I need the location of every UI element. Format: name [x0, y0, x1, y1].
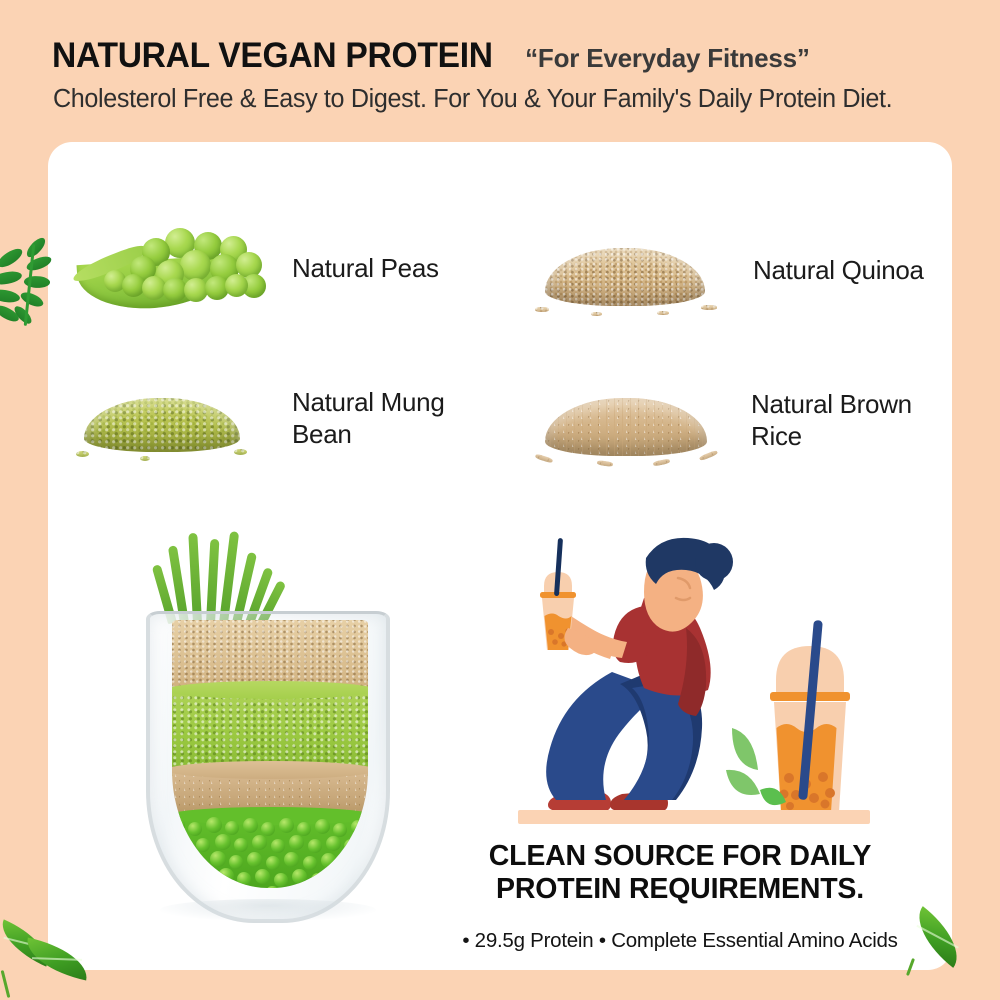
large-bubble-tea-cup	[770, 620, 850, 812]
cta-headline-line2: PROTEIN REQUIREMENTS.	[400, 873, 960, 906]
quinoa-pile-icon	[533, 220, 723, 320]
cta-headline-line1: CLEAN SOURCE FOR DAILY	[400, 840, 960, 873]
ground-shelf-bar	[518, 810, 870, 824]
subtitle: Cholesterol Free & Easy to Digest. For Y…	[53, 85, 892, 114]
cta-headline: CLEAN SOURCE FOR DAILY PROTEIN REQUIREME…	[400, 840, 960, 907]
sprout-icon	[160, 527, 290, 623]
layered-glass-image	[108, 527, 448, 947]
woman-drinking-illustration	[518, 532, 938, 822]
ingredient-item-mung-bean: Natural Mung Bean	[70, 370, 507, 466]
mung-bean-pile-icon	[70, 370, 260, 466]
fern-leaf-icon	[0, 232, 50, 336]
pea-pod-icon	[70, 220, 270, 316]
head	[644, 538, 733, 632]
ingredient-item-peas: Natural Peas	[70, 220, 439, 316]
illustration-svg	[518, 532, 938, 822]
brown-rice-pile-icon	[533, 370, 723, 470]
held-bubble-tea-cup	[540, 538, 597, 655]
ingredient-label: Natural Brown Rice	[751, 388, 952, 452]
header: NATURAL VEGAN PROTEIN “For Everyday Fitn…	[0, 0, 1000, 142]
ingredient-item-brown-rice: Natural Brown Rice	[533, 370, 952, 470]
glass-contents	[172, 620, 368, 888]
tea-leaf-icon-bottom-left	[0, 918, 116, 1000]
tagline: “For Everyday Fitness”	[525, 43, 810, 74]
ingredient-label: Natural Mung Bean	[292, 386, 507, 450]
page-title: NATURAL VEGAN PROTEIN	[52, 36, 493, 76]
ingredient-item-quinoa: Natural Quinoa	[533, 220, 924, 320]
glass-base-shadow	[160, 899, 376, 921]
title-row: NATURAL VEGAN PROTEIN “For Everyday Fitn…	[52, 36, 810, 76]
glass-vessel	[146, 611, 390, 923]
ingredient-label: Natural Peas	[292, 252, 439, 284]
bottom-copy-block: CLEAN SOURCE FOR DAILY PROTEIN REQUIREME…	[400, 840, 960, 953]
cta-bullets: • 29.5g Protein • Complete Essential Ami…	[400, 929, 960, 953]
infographic-page: NATURAL VEGAN PROTEIN “For Everyday Fitn…	[0, 0, 1000, 1000]
glass-layer-peas	[172, 816, 368, 888]
ingredient-label: Natural Quinoa	[753, 254, 924, 286]
tea-leaf-icon-bottom-right	[905, 918, 981, 988]
